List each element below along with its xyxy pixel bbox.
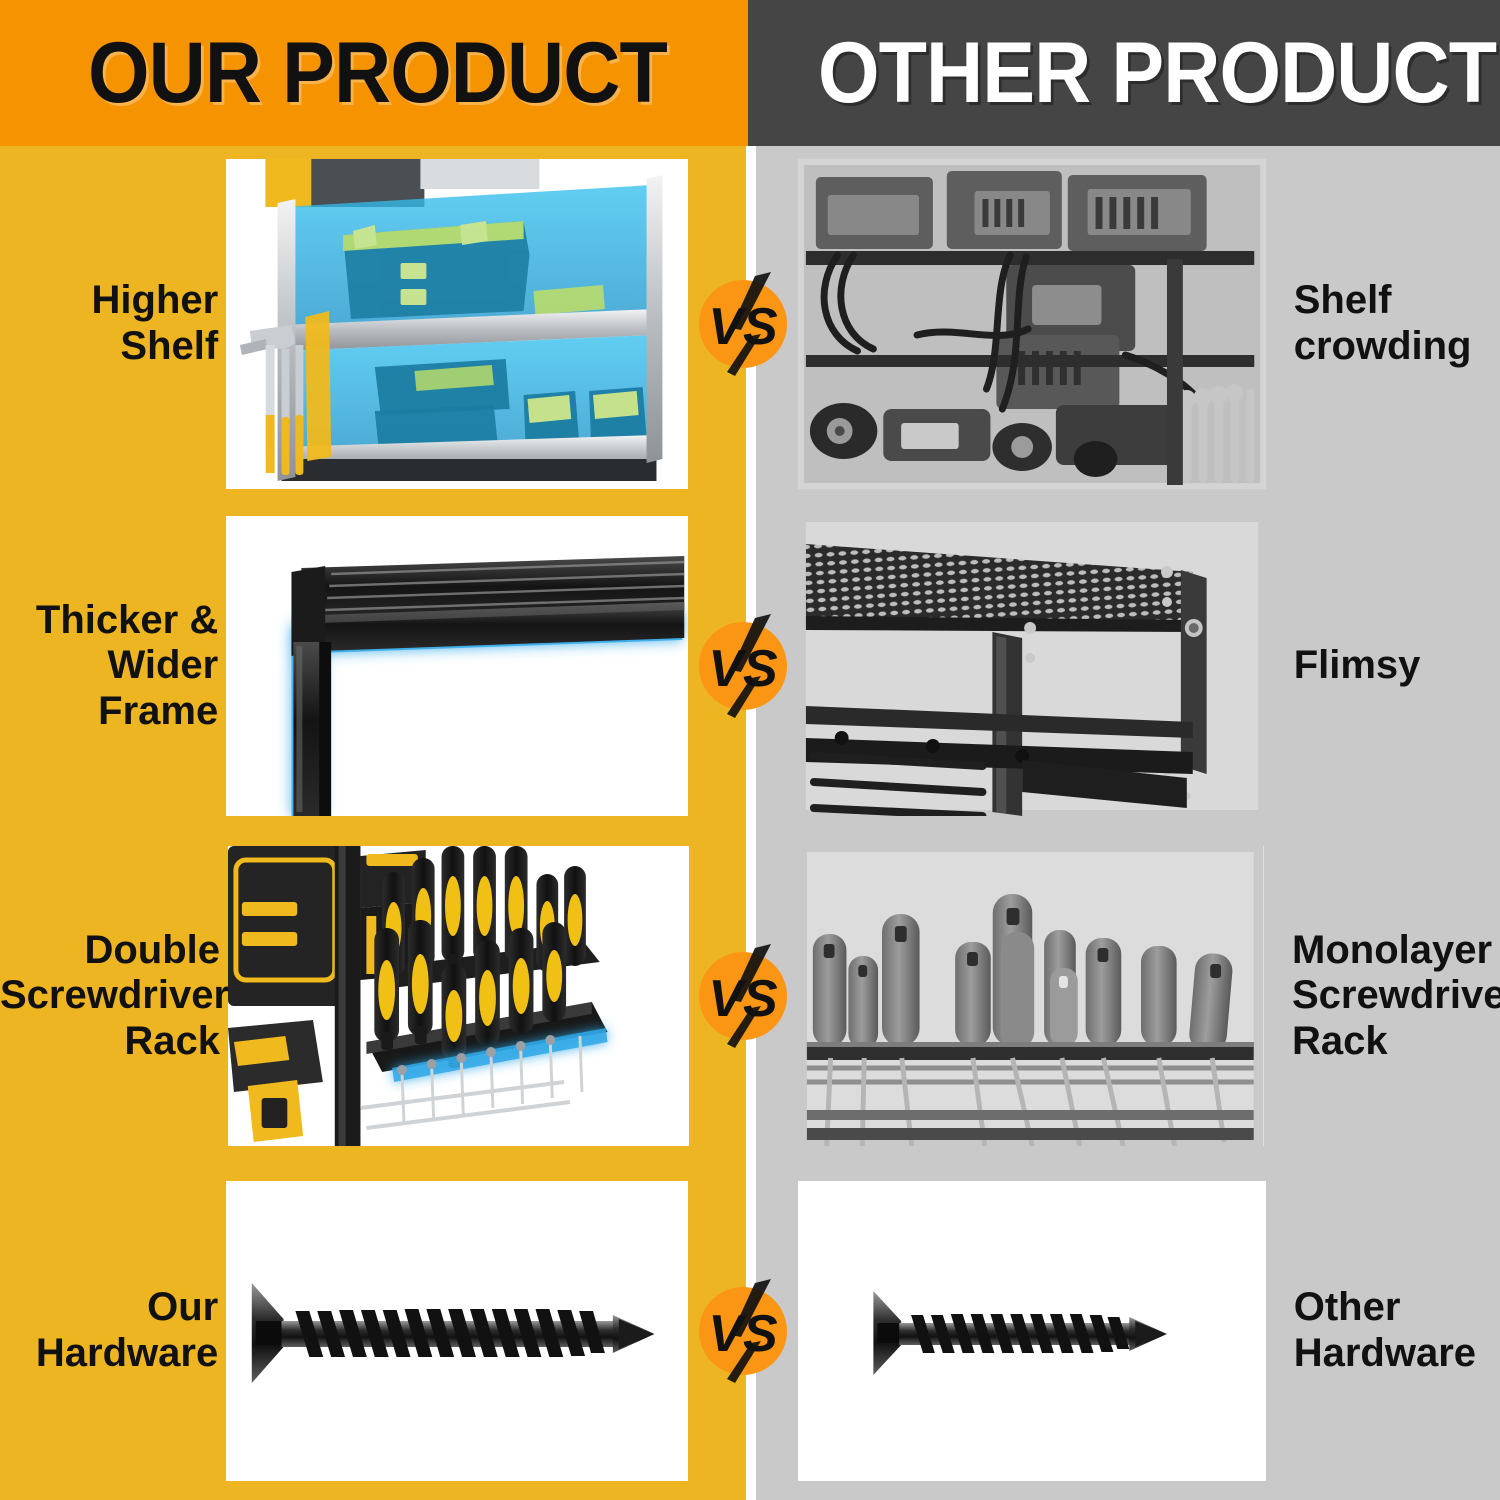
row-2-other-label: Flimsy xyxy=(1266,643,1500,689)
row-2-other-image xyxy=(798,516,1266,816)
svg-text:VS: VS xyxy=(708,640,778,698)
thick-black-slat-frame-photo xyxy=(226,516,688,816)
comparison-row-shelf-height: Higher Shelf xyxy=(0,146,1500,501)
row-2-our-image xyxy=(226,516,688,816)
header-our-product-title: OUR PRODUCT xyxy=(88,30,667,116)
double-row-screwdriver-rack-photo xyxy=(228,846,689,1146)
long-screw-photo xyxy=(226,1181,688,1481)
row-3-other-image xyxy=(797,846,1264,1146)
vs-badge: VS xyxy=(691,1279,795,1383)
comparison-row-hardware: Our Hardware xyxy=(0,1161,1500,1500)
comparison-row-screwdriver-rack: Double Screwdriver Rack xyxy=(0,831,1500,1161)
row-3-other-label: Monolayer Screwdriver Rack xyxy=(1264,928,1500,1065)
single-row-screwdriver-rack-grayscale-photo xyxy=(797,846,1264,1146)
comparison-infographic: OUR PRODUCT OTHER PRODUCT Higher Shelf xyxy=(0,0,1500,1500)
vs-badge: VS xyxy=(691,614,795,718)
crowded-shelf-grayscale-photo xyxy=(798,159,1266,489)
row-1-other-label: Shelf crowding xyxy=(1266,278,1500,369)
header-our-product: OUR PRODUCT xyxy=(0,0,748,146)
row-3-our-label: Double Screwdriver Rack xyxy=(0,928,228,1065)
vs-badge: VS xyxy=(691,272,795,376)
header-other-product-title: OTHER PRODUCT xyxy=(818,30,1496,116)
row-4-our-label: Our Hardware xyxy=(0,1285,226,1376)
short-screw-photo xyxy=(798,1181,1266,1481)
row-1-vs-slot: VS xyxy=(688,272,797,376)
header-other-product: OTHER PRODUCT xyxy=(748,0,1500,146)
tool-rack-highlighted-shelves-photo xyxy=(226,159,688,489)
row-4-other-image xyxy=(798,1181,1266,1481)
row-1-other-image xyxy=(798,159,1266,489)
row-4-vs-slot: VS xyxy=(688,1279,797,1383)
svg-text:VS: VS xyxy=(708,970,778,1028)
header-bar: OUR PRODUCT OTHER PRODUCT xyxy=(0,0,1500,146)
vs-badge: VS xyxy=(691,944,795,1048)
row-4-our-image xyxy=(226,1181,688,1481)
svg-text:VS: VS xyxy=(708,1305,778,1363)
comparison-row-frame-strength: Thicker & Wider Frame xyxy=(0,501,1500,831)
row-1-our-label: Higher Shelf xyxy=(0,278,226,369)
row-4-other-label: Other Hardware xyxy=(1266,1285,1500,1376)
row-3-our-image xyxy=(228,846,689,1146)
row-1-our-image xyxy=(226,159,688,489)
row-2-our-label: Thicker & Wider Frame xyxy=(0,598,226,735)
row-3-vs-slot: VS xyxy=(689,944,798,1048)
svg-text:VS: VS xyxy=(708,298,778,356)
row-2-vs-slot: VS xyxy=(688,614,797,718)
flimsy-mesh-rack-grayscale-photo xyxy=(798,516,1266,816)
